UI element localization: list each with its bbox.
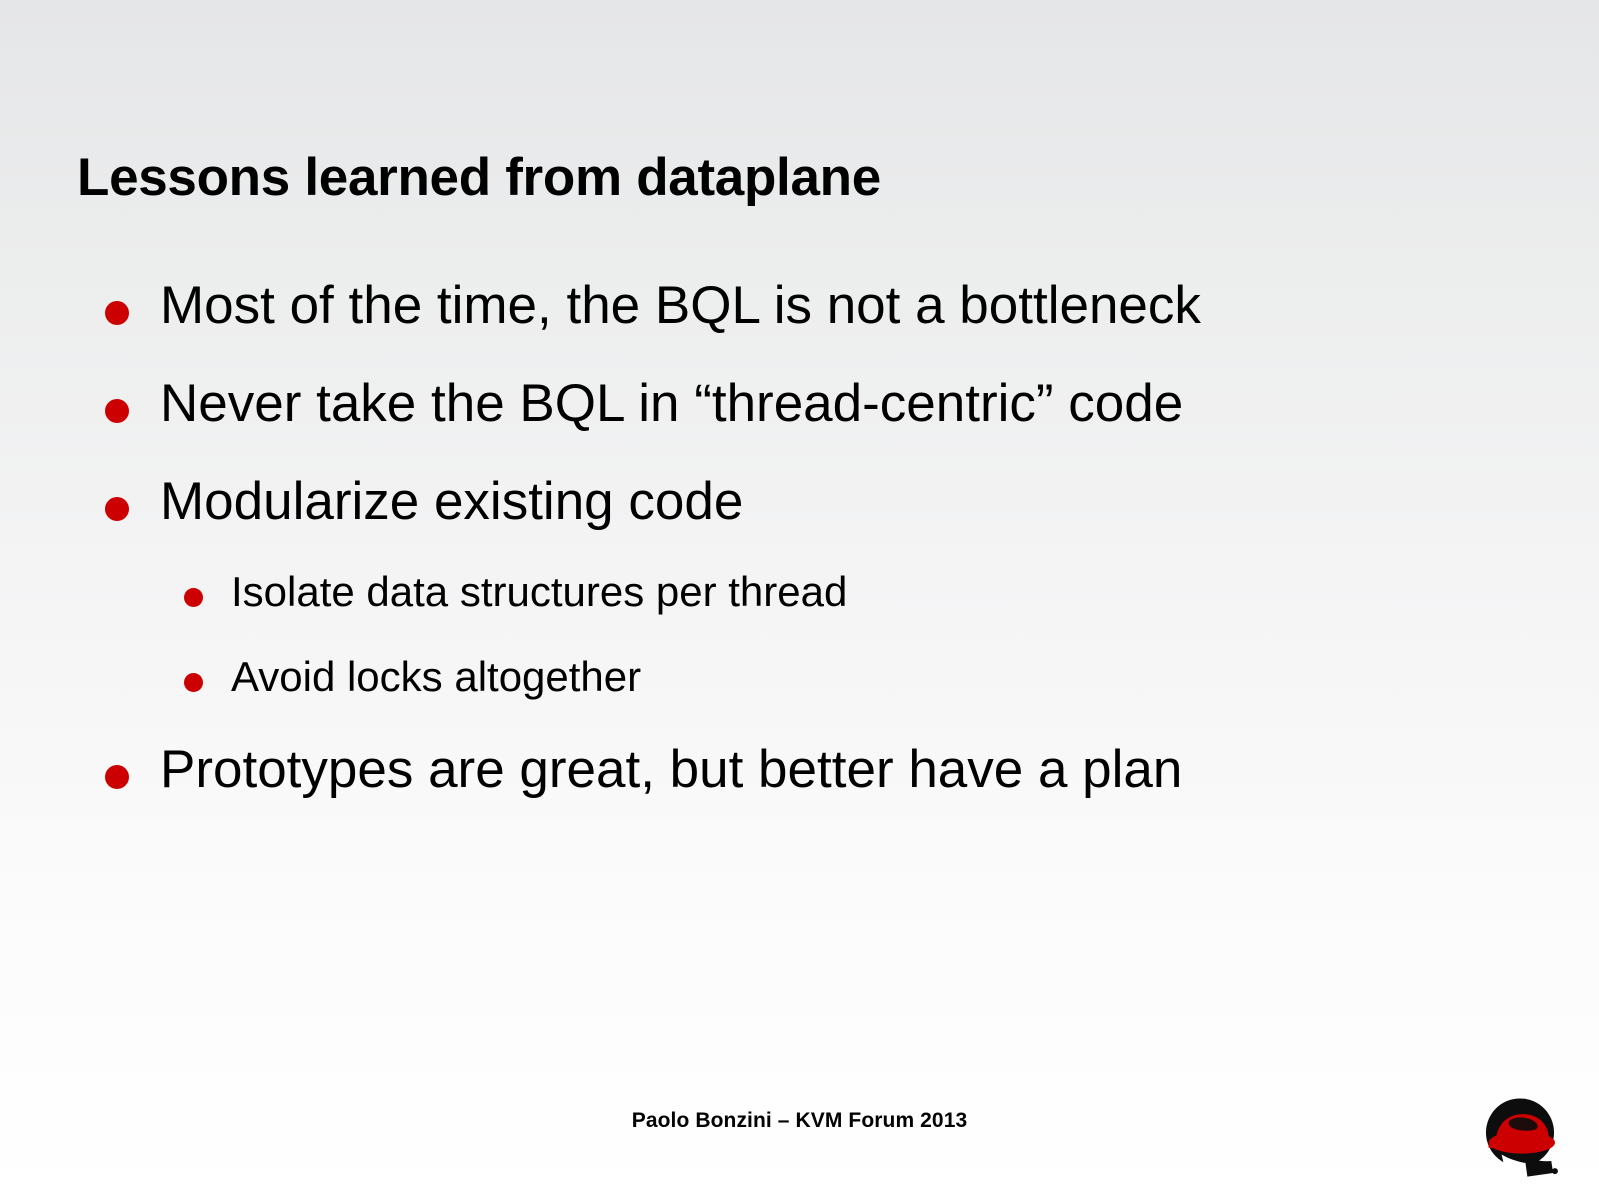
bullet-text: Prototypes are great, but better have a … <box>160 732 1599 803</box>
bullet-item: Prototypes are great, but better have a … <box>0 732 1599 830</box>
sub-bullet-text: Isolate data structures per thread <box>231 562 1599 619</box>
red-hat-shadowman-logo <box>1474 1092 1566 1184</box>
bullet-text: Modularize existing code <box>160 464 1599 535</box>
bullet-dot-icon <box>105 301 129 325</box>
bullet-dot-icon <box>105 765 129 789</box>
bullet-text: Most of the time, the BQL is not a bottl… <box>160 268 1599 339</box>
sub-bullet-item: Avoid locks altogether <box>0 647 1599 732</box>
bullet-dot-icon <box>105 497 129 521</box>
bullet-list: Most of the time, the BQL is not a bottl… <box>0 268 1599 830</box>
sub-bullet-text: Avoid locks altogether <box>231 647 1599 704</box>
bullet-dot-icon <box>184 673 203 692</box>
sub-bullet-item: Isolate data structures per thread <box>0 562 1599 647</box>
bullet-item: Modularize existing code <box>0 464 1599 562</box>
footer-attribution: Paolo Bonzini – KVM Forum 2013 <box>0 1109 1599 1133</box>
presentation-slide: Lessons learned from dataplane Most of t… <box>0 0 1599 1199</box>
bullet-item: Most of the time, the BQL is not a bottl… <box>0 268 1599 366</box>
bullet-item: Never take the BQL in “thread-centric” c… <box>0 366 1599 464</box>
bullet-dot-icon <box>184 588 203 607</box>
bullet-text: Never take the BQL in “thread-centric” c… <box>160 366 1599 437</box>
bullet-dot-icon <box>105 399 129 423</box>
slide-title: Lessons learned from dataplane <box>77 148 1527 209</box>
